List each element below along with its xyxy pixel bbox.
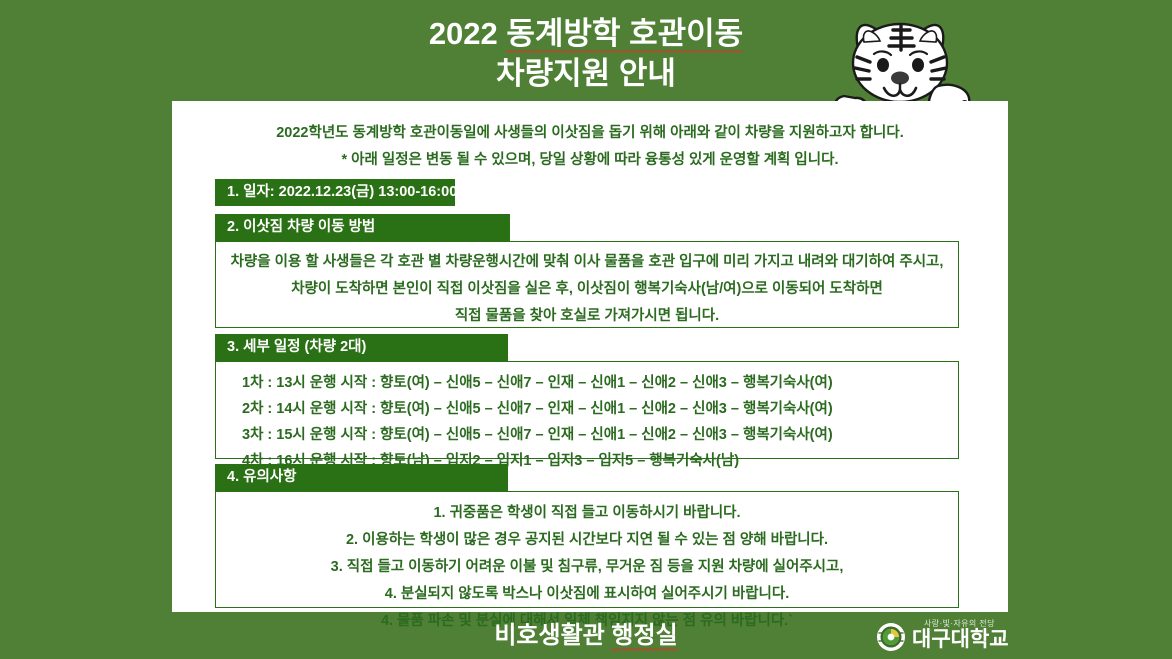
schedule-row-3: 3차 : 15시 운행 시작 : 향토(여) – 신애5 – 신애7 – 인재 … — [242, 422, 958, 448]
section-heading-notes: 4. 유의사항 — [215, 464, 508, 491]
footer-office-building: 비호생활관 — [494, 622, 611, 649]
poster-title-line-1: 2022 동계방학 호관이동 — [0, 14, 1172, 54]
schedule-list: 1차 : 13시 운행 시작 : 향토(여) – 신애5 – 신애7 – 인재 … — [216, 362, 958, 474]
poster-panel: 2022학년도 동계방학 호관이동일에 사생들의 이삿짐을 돕기 위해 아래와 … — [172, 101, 1008, 612]
section-box-schedule: 1차 : 13시 운행 시작 : 향토(여) – 신애5 – 신애7 – 인재 … — [215, 361, 959, 459]
intro-line-2: * 아래 일정은 변동 될 수 있으며, 당일 상황에 따라 융통성 있게 운영… — [172, 147, 1008, 174]
section-heading-method: 2. 이삿짐 차량 이동 방법 — [215, 214, 510, 241]
schedule-row-1: 1차 : 13시 운행 시작 : 향토(여) – 신애5 – 신애7 – 인재 … — [242, 370, 958, 396]
note-item-1: 1. 귀중품은 학생이 직접 들고 이동하시기 바랍니다. — [216, 500, 958, 527]
intro-line-1: 2022학년도 동계방학 호관이동일에 사생들의 이삿짐을 돕기 위해 아래와 … — [172, 120, 1008, 147]
note-item-2: 2. 이용하는 학생이 많은 경우 공지된 시간보다 지연 될 수 있는 점 양… — [216, 527, 958, 554]
note-item-3: 3. 직접 들고 이동하기 어려운 이불 및 침구류, 무거운 짐 등을 지원 … — [216, 554, 958, 581]
note-item-4: 4. 분실되지 않도록 박스나 이삿짐에 표시하여 실어주시기 바랍니다. — [216, 581, 958, 608]
schedule-row-2: 2차 : 14시 운행 시작 : 향토(여) – 신애5 – 신애7 – 인재 … — [242, 396, 958, 422]
university-logo: 사랑·빛·자유의 전당 대구대학교 — [876, 618, 1066, 656]
poster-title-year: 2022 — [429, 16, 507, 51]
logo-name: 대구대학교 — [912, 627, 1009, 652]
notes-list: 1. 귀중품은 학생이 직접 들고 이동하시기 바랍니다. 2. 이용하는 학생… — [216, 492, 958, 635]
method-line-3: 직접 물품을 찾아 호실로 가져가시면 됩니다. — [216, 303, 958, 330]
footer-office-dept: 행정실 — [611, 622, 677, 651]
intro-text: 2022학년도 동계방학 호관이동일에 사생들의 이삿짐을 돕기 위해 아래와 … — [172, 101, 1008, 174]
section-box-method: 차량을 이용 할 사생들은 각 호관 별 차량운행시간에 맞춰 이사 물품을 호… — [215, 241, 959, 328]
section-box-notes: 1. 귀중품은 학생이 직접 들고 이동하시기 바랍니다. 2. 이용하는 학생… — [215, 491, 959, 608]
section-heading-schedule: 3. 세부 일정 (차량 2대) — [215, 334, 508, 361]
daegu-university-emblem-icon — [876, 622, 906, 652]
poster-title-line-2: 차량지원 안내 — [0, 54, 1172, 94]
poster-title-subject: 동계방학 호관이동 — [506, 16, 743, 53]
poster-title: 2022 동계방학 호관이동 차량지원 안내 — [0, 14, 1172, 94]
method-line-1: 차량을 이용 할 사생들은 각 호관 별 차량운행시간에 맞춰 이사 물품을 호… — [216, 249, 958, 276]
section-heading-date: 1. 일자: 2022.12.23(금) 13:00-16:00 — [215, 179, 455, 206]
method-text: 차량을 이용 할 사생들은 각 호관 별 차량운행시간에 맞춰 이사 물품을 호… — [216, 242, 958, 330]
method-line-2: 차량이 도착하면 본인이 직접 이삿짐을 실은 후, 이삿짐이 행복기숙사(남/… — [216, 276, 958, 303]
